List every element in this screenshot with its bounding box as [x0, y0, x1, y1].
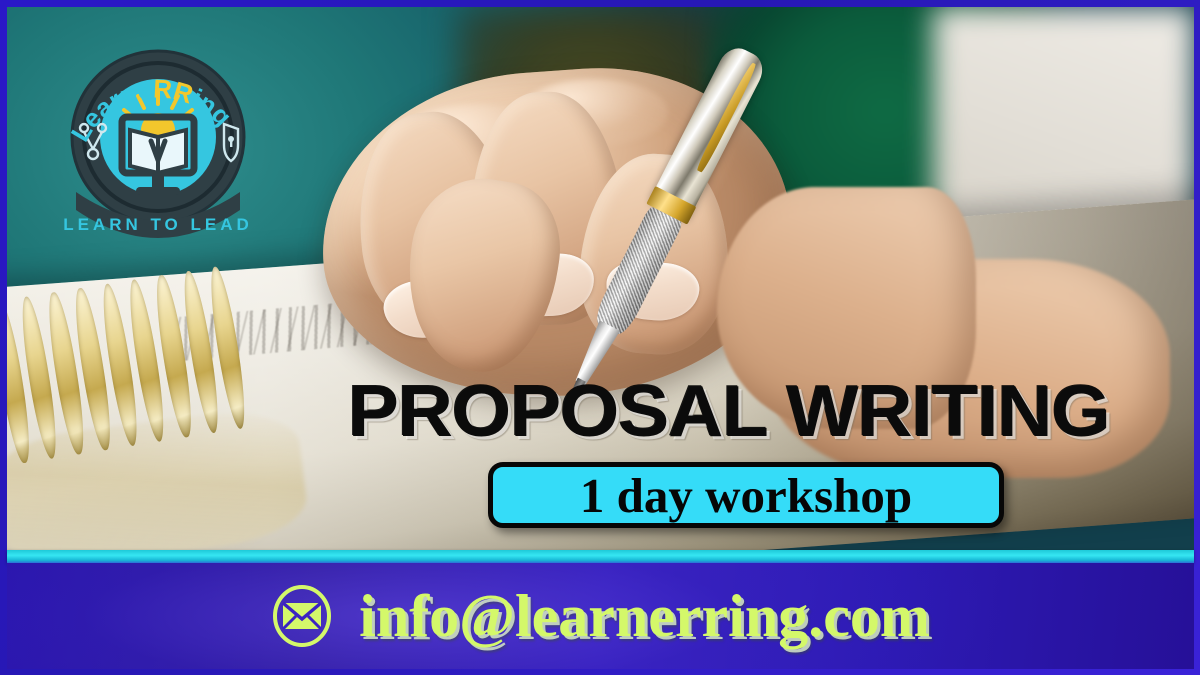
contact-bar: info@learnerring.com — [7, 563, 1194, 669]
contact-email[interactable]: info@learnerring.com — [359, 586, 930, 646]
envelope-icon — [271, 585, 333, 647]
workshop-badge: 1 day workshop — [488, 462, 1004, 528]
cyan-divider — [7, 550, 1194, 563]
workshop-badge-label: 1 day workshop — [580, 471, 912, 520]
promotional-poster: LearneRRing LEARN TO LEAD PROPOSAL WRITI… — [0, 0, 1200, 675]
logo-tagline: LEARN TO LEAD — [63, 215, 253, 234]
writing-hand — [310, 12, 927, 428]
page-title: PROPOSAL WRITING — [348, 376, 1110, 448]
open-book-icon — [130, 130, 186, 173]
brand-logo[interactable]: LearneRRing LEARN TO LEAD — [58, 42, 258, 247]
